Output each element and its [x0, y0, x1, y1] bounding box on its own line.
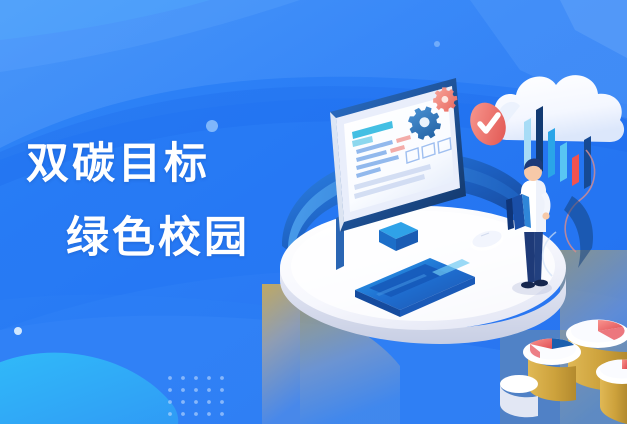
small-white-disc: [500, 375, 538, 417]
person-tablet: [506, 194, 531, 230]
bar-5: [572, 154, 579, 186]
decor-slab-dark: [564, 196, 593, 268]
pie-chart-center: [523, 338, 581, 401]
bar-6: [584, 136, 591, 189]
pie-chart-front: [596, 360, 627, 424]
illustration-layer: [0, 0, 627, 424]
cloud-with-bar-chart: [491, 75, 625, 189]
bar-4: [560, 142, 567, 182]
banner-graphic: 双碳目标 绿色校园: [0, 0, 627, 424]
isometric-illustration: [0, 0, 627, 424]
bar-3: [548, 128, 555, 178]
